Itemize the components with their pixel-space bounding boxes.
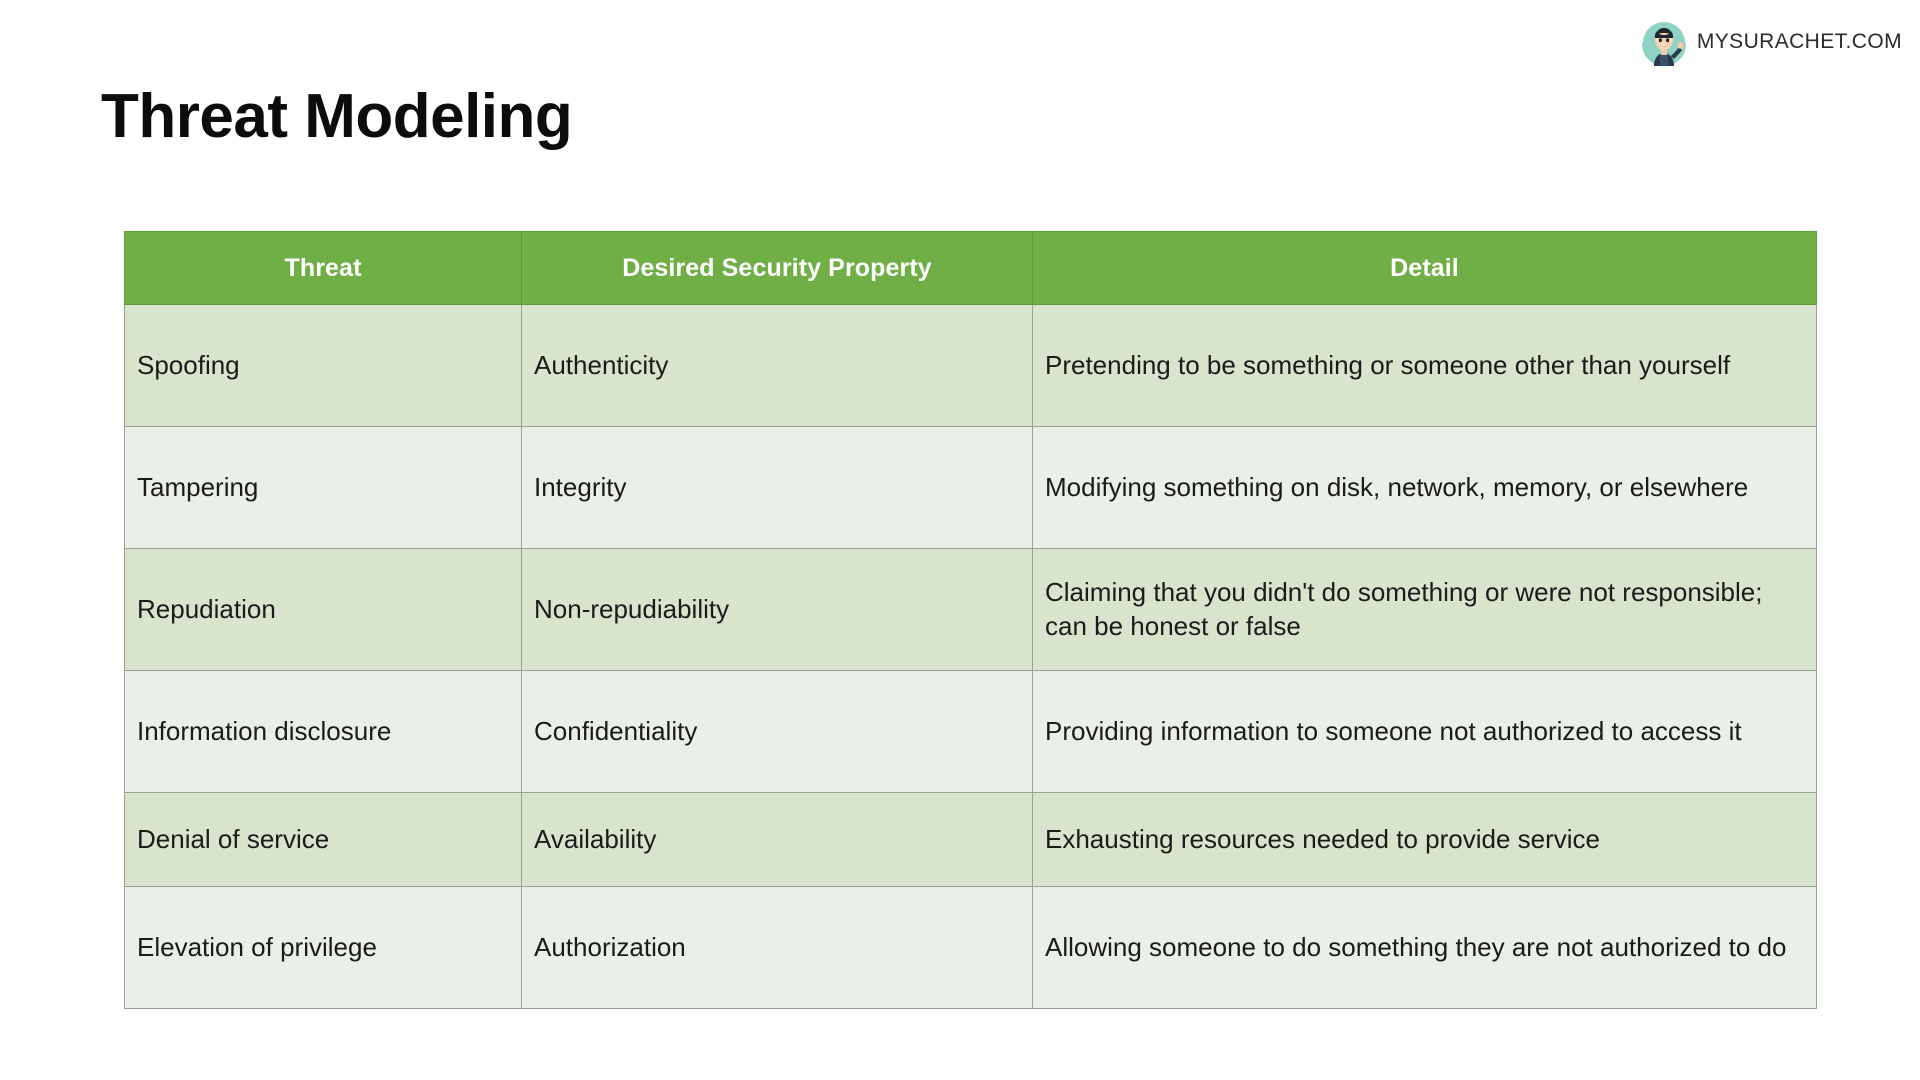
brand-name: MYSURACHET.COM xyxy=(1697,30,1902,54)
cell-property: Availability xyxy=(522,793,1033,887)
cell-detail: Providing information to someone not aut… xyxy=(1033,671,1817,793)
table-body: Spoofing Authenticity Pretending to be s… xyxy=(125,305,1817,1009)
cell-detail: Exhausting resources needed to provide s… xyxy=(1033,793,1817,887)
table-header: Threat Desired Security Property Detail xyxy=(125,232,1817,305)
column-header-threat: Threat xyxy=(125,232,522,305)
cell-threat: Spoofing xyxy=(125,305,522,427)
cell-detail: Modifying something on disk, network, me… xyxy=(1033,427,1817,549)
cell-threat: Denial of service xyxy=(125,793,522,887)
threat-table-container: Threat Desired Security Property Detail … xyxy=(124,231,1816,1009)
table-row: Elevation of privilege Authorization All… xyxy=(125,887,1817,1009)
cell-property: Authorization xyxy=(522,887,1033,1009)
threat-table: Threat Desired Security Property Detail … xyxy=(124,231,1817,1009)
slide-canvas: MYSURACHET.COM Threat Modeling Threat De… xyxy=(0,0,1920,1080)
cell-threat: Repudiation xyxy=(125,549,522,671)
page-title: Threat Modeling xyxy=(101,84,572,149)
table-row: Repudiation Non-repudiability Claiming t… xyxy=(125,549,1817,671)
table-row: Spoofing Authenticity Pretending to be s… xyxy=(125,305,1817,427)
table-header-row: Threat Desired Security Property Detail xyxy=(125,232,1817,305)
cell-threat: Tampering xyxy=(125,427,522,549)
brand-watermark: MYSURACHET.COM xyxy=(1640,18,1902,66)
cell-property: Integrity xyxy=(522,427,1033,549)
table-row: Denial of service Availability Exhaustin… xyxy=(125,793,1817,887)
table-row: Tampering Integrity Modifying something … xyxy=(125,427,1817,549)
cell-detail: Allowing someone to do something they ar… xyxy=(1033,887,1817,1009)
cell-detail: Pretending to be something or someone ot… xyxy=(1033,305,1817,427)
cell-threat: Information disclosure xyxy=(125,671,522,793)
cell-detail: Claiming that you didn't do something or… xyxy=(1033,549,1817,671)
column-header-detail: Detail xyxy=(1033,232,1817,305)
person-avatar-icon xyxy=(1640,18,1688,66)
cell-property: Non-repudiability xyxy=(522,549,1033,671)
cell-property: Confidentiality xyxy=(522,671,1033,793)
column-header-property: Desired Security Property xyxy=(522,232,1033,305)
cell-threat: Elevation of privilege xyxy=(125,887,522,1009)
table-row: Information disclosure Confidentiality P… xyxy=(125,671,1817,793)
cell-property: Authenticity xyxy=(522,305,1033,427)
